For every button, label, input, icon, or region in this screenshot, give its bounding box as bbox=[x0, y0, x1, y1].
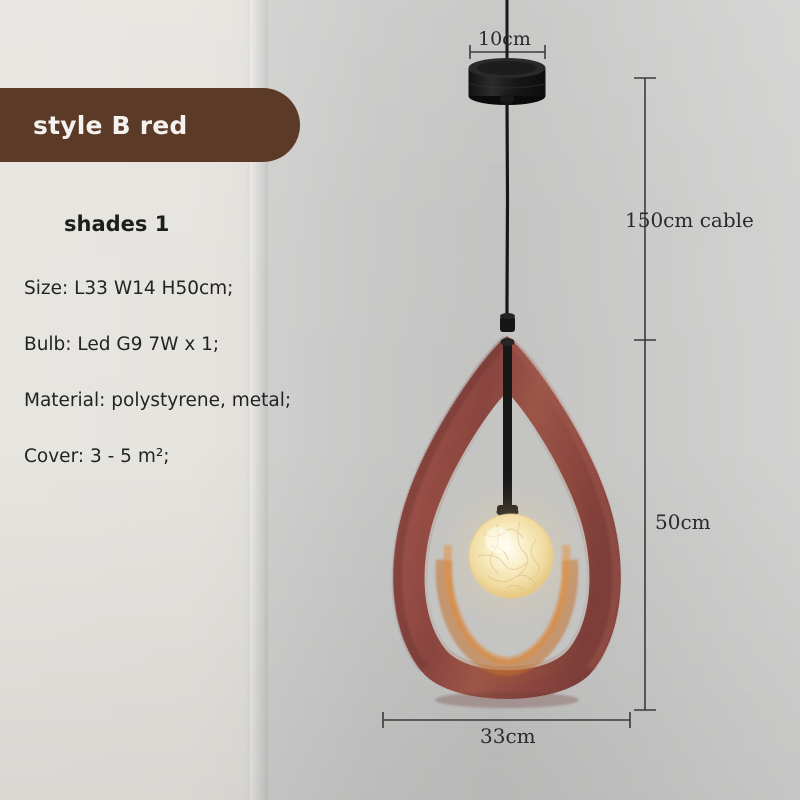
dimension-label-cable-length: 150cm cable bbox=[625, 208, 754, 232]
product-spec-image: style B red shades 1 Size: L33 W14 H50cm… bbox=[0, 0, 800, 800]
dimension-label-shade-height: 50cm bbox=[655, 510, 711, 534]
cable-connector bbox=[500, 313, 515, 332]
dimension-label-shade-width: 33cm bbox=[480, 724, 536, 748]
hanging-cable bbox=[507, 100, 508, 318]
pendant-lamp-illustration bbox=[0, 0, 800, 800]
dimension-label-canopy-width: 10cm bbox=[478, 28, 531, 50]
ceiling-canopy bbox=[469, 58, 546, 105]
light-bulb bbox=[436, 481, 586, 631]
